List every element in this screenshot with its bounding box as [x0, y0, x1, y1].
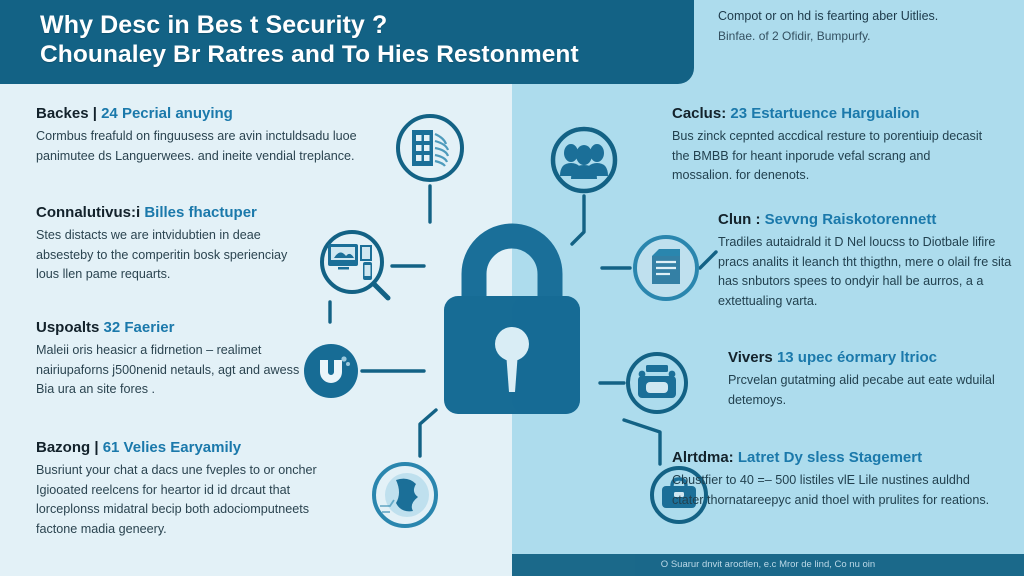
info-block-value: 32 Faerier — [104, 319, 175, 336]
info-block-key: Connalutivus:i — [36, 204, 140, 221]
info-block-value: 13 upec éormary ltrioc — [777, 349, 937, 366]
info-block-uspoalts: Uspoalts 32 Faerier Maleii oris heasicr … — [36, 318, 308, 400]
info-block-title: Connalutivus:i Billes fhactuper — [36, 203, 308, 223]
header-banner: Why Desc in Bes t Security ? Chounaley B… — [0, 0, 694, 84]
footer-bar: O Suarur dnvit aroctlen, e.c Mror de lin… — [512, 554, 1024, 576]
info-block-value: 61 Velies Earyamily — [103, 439, 241, 456]
info-block-key: Uspoalts — [36, 319, 99, 336]
info-block-key: Alrtdma: — [672, 449, 734, 466]
info-block-value: Billes fhactuper — [144, 204, 257, 221]
header-note: Compot or on hd is fearting aber Uitlies… — [718, 6, 1018, 46]
info-block-title: Clun : Sevvng Raiskotorennett — [718, 210, 1018, 230]
info-block-body: Busriunt your chat a dacs une fveples to… — [36, 461, 348, 539]
header-note-line-1: Compot or on hd is fearting aber Uitlies… — [718, 6, 1018, 26]
info-block-body: Maleii oris heasicr a fidrnetion – reali… — [36, 341, 308, 400]
documents-stack-icon — [630, 232, 702, 304]
info-block-key: Clun : — [718, 211, 761, 228]
info-block-key: Caclus: — [672, 105, 726, 122]
info-block-title: Alrtdma: Latret Dy sless Stagemert — [672, 448, 1002, 468]
info-block-body: Tradiles autaidrald it D Nel loucss to D… — [718, 233, 1018, 311]
page-title-line-2: Chounaley Br Ratres and To Hies Restonme… — [40, 40, 666, 70]
header-note-line-2: Binfae. of 2 Ofidir, Bumpurfy. — [718, 26, 1018, 46]
info-block-title: Bazong | 61 Velies Earyamily — [36, 438, 348, 458]
info-block-key: Backes | — [36, 105, 97, 122]
info-block-value: Sevvng Raiskotorennett — [765, 211, 937, 228]
info-block-title: Uspoalts 32 Faerier — [36, 318, 308, 338]
info-block-vivers: Vivers 13 upec éormary ltrioc Prcvelan g… — [728, 348, 1018, 410]
info-block-bazong: Bazong | 61 Velies Earyamily Busriunt yo… — [36, 438, 348, 539]
page-title-line-1: Why Desc in Bes t Security ? — [40, 10, 666, 40]
info-block-connalutivus: Connalutivus:i Billes fhactuper Stes dis… — [36, 203, 308, 285]
info-block-body: Cbustfier to 40 =– 500 listiles vlE Lile… — [672, 471, 1002, 510]
info-block-value: 24 Pecrial anuying — [101, 105, 233, 122]
info-block-body: Cormbus freafuld on finguusess are avin … — [36, 127, 366, 166]
people-group-icon — [548, 124, 620, 196]
info-block-body: Prcvelan gutatming alid pecabe aut eate … — [728, 371, 1018, 410]
info-block-alrtdma: Alrtdma: Latret Dy sless Stagemert Cbust… — [672, 448, 1002, 510]
padlock-icon — [426, 222, 598, 418]
info-block-backes: Backes | 24 Pecrial anuying Cormbus frea… — [36, 104, 366, 166]
globe-icon — [366, 456, 444, 534]
info-block-title: Backes | 24 Pecrial anuying — [36, 104, 366, 124]
printer-icon — [624, 350, 690, 416]
info-block-title: Caclus: 23 Estartuence Hargualion — [672, 104, 992, 124]
server-building-icon — [394, 112, 466, 184]
info-block-key: Bazong | — [36, 439, 99, 456]
devices-monitor-icon — [318, 228, 392, 302]
info-block-title: Vivers 13 upec éormary ltrioc — [728, 348, 1018, 368]
info-block-clun: Clun : Sevvng Raiskotorennett Tradiles a… — [718, 210, 1018, 311]
info-block-value: 23 Estartuence Hargualion — [730, 105, 919, 122]
info-block-body: Bus zinck cepnted accdical resture to po… — [672, 127, 992, 186]
magnet-icon — [300, 340, 362, 402]
info-block-value: Latret Dy sless Stagemert — [738, 449, 922, 466]
info-block-key: Vivers — [728, 349, 773, 366]
info-block-caclus: Caclus: 23 Estartuence Hargualion Bus zi… — [672, 104, 992, 186]
info-block-body: Stes distacts we are intvidubtien in dea… — [36, 226, 308, 285]
